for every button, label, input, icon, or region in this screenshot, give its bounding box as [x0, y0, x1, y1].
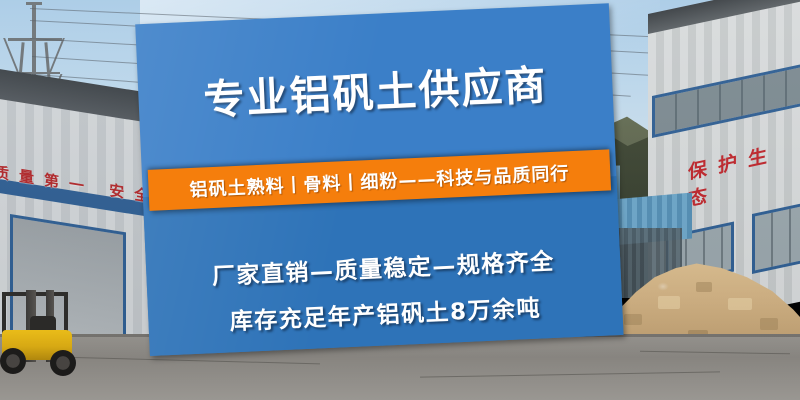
forklift-wheel [0, 348, 26, 374]
overlay-panel-wrap: 专业铝矾土供应商 铝矾土熟料丨骨料丨细粉——科技与品质同行 厂家直销—质量稳定—… [150, 0, 628, 400]
promo-banner: 质量第一 安全为重 保护生态 [0, 0, 800, 400]
orange-tagline-band: 铝矾土熟料丨骨料丨细粉——科技与品质同行 [148, 149, 611, 211]
panel-content: 专业铝矾土供应商 铝矾土熟料丨骨料丨细粉——科技与品质同行 厂家直销—质量稳定—… [135, 3, 623, 356]
orange-band-text: 铝矾土熟料丨骨料丨细粉——科技与品质同行 [189, 159, 570, 202]
sub-line-2: 库存充足年产铝矾土8万余吨 [148, 285, 623, 340]
sub-line-1: 厂家直销—质量稳定—规格齐全 [146, 239, 621, 294]
headline: 专业铝矾土供应商 [138, 61, 613, 125]
forklift-wheel [50, 350, 76, 376]
